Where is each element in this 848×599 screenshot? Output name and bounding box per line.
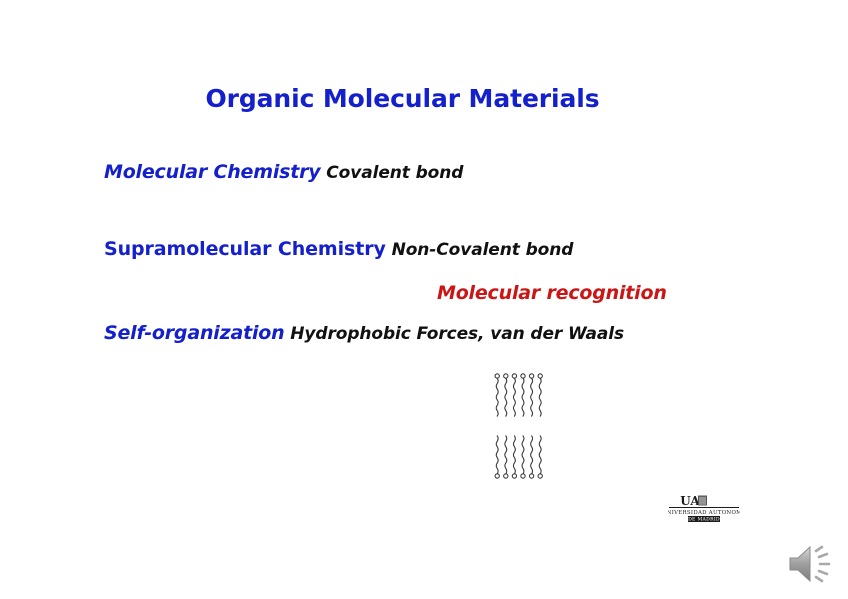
lipid-tail xyxy=(496,436,498,474)
speaker-icon[interactable] xyxy=(786,540,838,588)
line-lead-self-organization: Self-organization xyxy=(104,322,284,344)
line-tail-hydrophobic-forces: Hydrophobic Forces, van der Waals xyxy=(284,324,624,344)
text-line-molecular-chemistry: Molecular Chemistry Covalent bond xyxy=(104,161,463,183)
line-tail-covalent-bond: Covalent bond xyxy=(320,163,463,183)
lipid-tail xyxy=(522,436,524,474)
line-tail-non-covalent-bond: Non-Covalent bond xyxy=(386,240,574,260)
lipid-tail xyxy=(505,436,507,474)
lipid-tail xyxy=(539,378,541,416)
uam-logo: UA UNIVERSIDAD AUTONOMA DE MADRID xyxy=(668,493,740,523)
lipid-tail xyxy=(496,378,498,416)
lipid-head xyxy=(538,374,542,378)
uam-monogram-text: UA xyxy=(680,494,700,508)
uam-city-name: DE MADRID xyxy=(688,517,720,523)
lipid-head xyxy=(521,374,525,378)
lipid-head xyxy=(504,374,508,378)
lipid-head xyxy=(538,474,542,478)
lipid-head xyxy=(495,474,499,478)
lipid-head xyxy=(504,474,508,478)
lipid-tail xyxy=(531,436,533,474)
lipid-tail xyxy=(539,436,541,474)
lipid-bilayer-figure xyxy=(492,372,548,480)
lipid-head xyxy=(521,474,525,478)
uam-shield-mark xyxy=(698,496,707,506)
lipid-tail xyxy=(513,378,515,416)
lipid-head xyxy=(529,474,533,478)
text-line-supramolecular-chemistry: Supramolecular Chemistry Non-Covalent bo… xyxy=(104,238,573,260)
text-line-self-organization: Self-organization Hydrophobic Forces, va… xyxy=(104,322,624,344)
slide-canvas: Organic Molecular Materials Molecular Ch… xyxy=(0,0,848,599)
lipid-head xyxy=(512,374,516,378)
lipid-tail xyxy=(505,378,507,416)
emphasis-molecular-recognition: Molecular recognition xyxy=(437,282,667,304)
lipid-tail xyxy=(531,378,533,416)
speaker-waves xyxy=(816,547,829,581)
lipid-head xyxy=(512,474,516,478)
line-lead-supramolecular-chemistry: Supramolecular Chemistry xyxy=(104,238,386,260)
page-title: Organic Molecular Materials xyxy=(0,84,805,113)
lipid-tail xyxy=(522,378,524,416)
speaker-body xyxy=(790,547,810,581)
lipid-head xyxy=(529,374,533,378)
lipid-tail xyxy=(513,436,515,474)
line-lead-molecular-chemistry: Molecular Chemistry xyxy=(104,161,320,183)
uam-university-name: UNIVERSIDAD AUTONOMA xyxy=(668,510,740,516)
lipid-head xyxy=(495,374,499,378)
